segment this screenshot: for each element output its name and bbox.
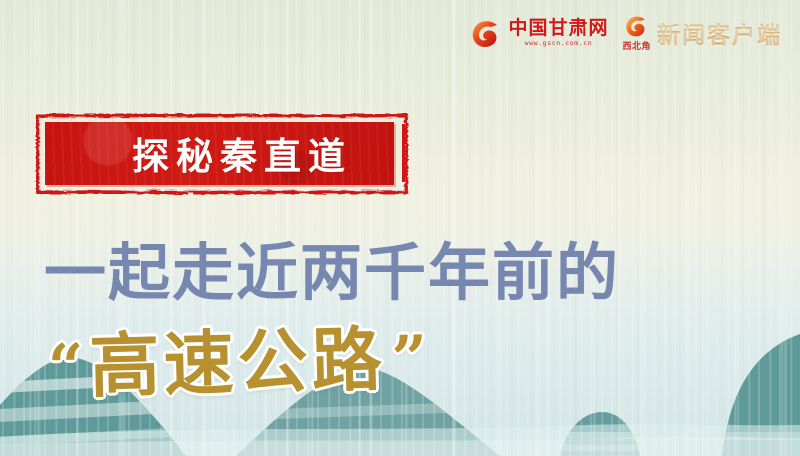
brand-xibeijiao-mark: 西北角 bbox=[622, 14, 651, 52]
seal-banner: 探秘秦直道 bbox=[36, 114, 408, 194]
orange-swirl-logo-icon bbox=[625, 14, 648, 38]
brand-gscn-name: 中国甘肃网 bbox=[508, 19, 608, 38]
brand-xibeijiao-name: 西北角 bbox=[622, 39, 651, 52]
poster-canvas: 中国甘肃网 www.gscn.com.cn bbox=[0, 0, 800, 456]
headline-line-2-text: 高速公路 bbox=[89, 324, 387, 401]
red-swirl-logo-icon bbox=[471, 18, 501, 49]
headline-line-1: 一起走近两千年前的 bbox=[44, 242, 620, 304]
headline-line-2: “ 高速公路 ” bbox=[47, 323, 432, 402]
brand-gscn-text: 中国甘肃网 www.gscn.com.cn bbox=[508, 19, 608, 47]
brand-gscn[interactable]: 中国甘肃网 www.gscn.com.cn bbox=[471, 18, 608, 49]
quote-open-mark: “ bbox=[47, 336, 88, 399]
brand-xibeijiao[interactable]: 西北角 新闻客户端 bbox=[622, 14, 782, 52]
brand-gscn-url: www.gscn.com.cn bbox=[525, 40, 593, 47]
brand-app-label: 新闻客户端 bbox=[657, 16, 782, 50]
quote-close-mark: ” bbox=[391, 327, 432, 390]
seal-title-text: 探秘秦直道 bbox=[36, 114, 408, 194]
brand-bar: 中国甘肃网 www.gscn.com.cn bbox=[471, 14, 782, 52]
